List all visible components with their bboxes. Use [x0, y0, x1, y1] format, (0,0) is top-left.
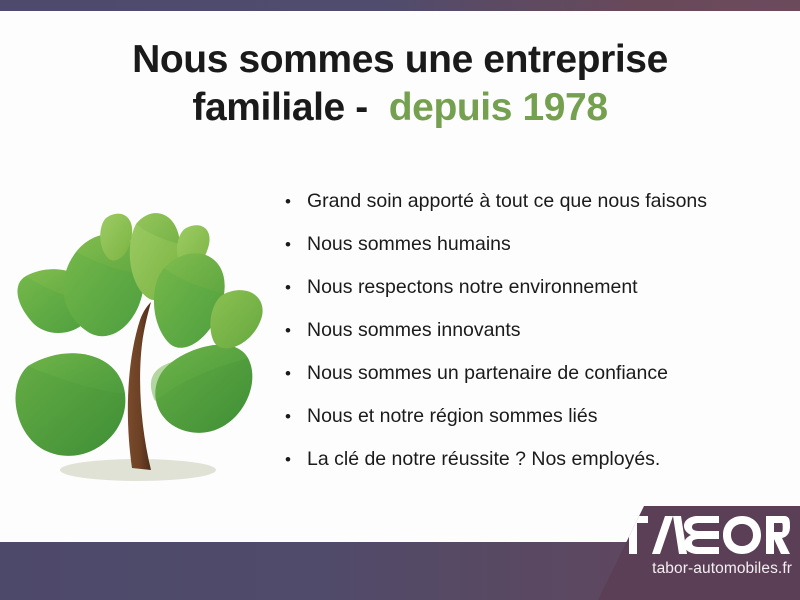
list-item-label: Nous respectons notre environnement [307, 276, 638, 299]
page-title: Nous sommes une entreprise familiale - d… [60, 36, 740, 131]
presentation-slide: Nous sommes une entreprise familiale - d… [0, 0, 800, 600]
list-item-label: Nous sommes innovants [307, 319, 521, 342]
bullet-marker-icon: • [285, 451, 307, 468]
top-accent-bar [0, 0, 800, 11]
list-item: • Grand soin apporté à tout ce que nous … [285, 190, 755, 233]
list-item: • La clé de notre réussite ? Nos employé… [285, 448, 755, 491]
list-item: • Nous et notre région sommes liés [285, 405, 755, 448]
list-item: • Nous sommes un partenaire de confiance [285, 362, 755, 405]
list-item-label: Nous sommes humains [307, 233, 511, 256]
bullet-marker-icon: • [285, 279, 307, 296]
list-item-label: Nous et notre région sommes liés [307, 405, 597, 428]
bullet-list: • Grand soin apporté à tout ce que nous … [285, 190, 755, 491]
tree-illustration [12, 182, 280, 490]
list-item: • Nous sommes humains [285, 233, 755, 276]
tree-trunk [128, 302, 151, 470]
title-line-2: familiale - depuis 1978 [60, 84, 740, 132]
list-item-label: La clé de notre réussite ? Nos employés. [307, 448, 660, 471]
tabor-wordmark-logo [618, 516, 790, 554]
bullet-marker-icon: • [285, 408, 307, 425]
bullet-marker-icon: • [285, 365, 307, 382]
list-item: • Nous sommes innovants [285, 319, 755, 362]
list-item: • Nous respectons notre environnement [285, 276, 755, 319]
logo-tagline: tabor-automobiles.fr [612, 560, 792, 578]
title-line-1: Nous sommes une entreprise [60, 36, 740, 84]
title-accent-depuis-1978: depuis 1978 [389, 86, 608, 129]
bullet-marker-icon: • [285, 193, 307, 210]
title-line-2-plain: familiale - [192, 86, 388, 129]
list-item-label: Grand soin apporté à tout ce que nous fa… [307, 190, 707, 213]
bullet-marker-icon: • [285, 322, 307, 339]
bullet-marker-icon: • [285, 236, 307, 253]
list-item-label: Nous sommes un partenaire de confiance [307, 362, 668, 385]
